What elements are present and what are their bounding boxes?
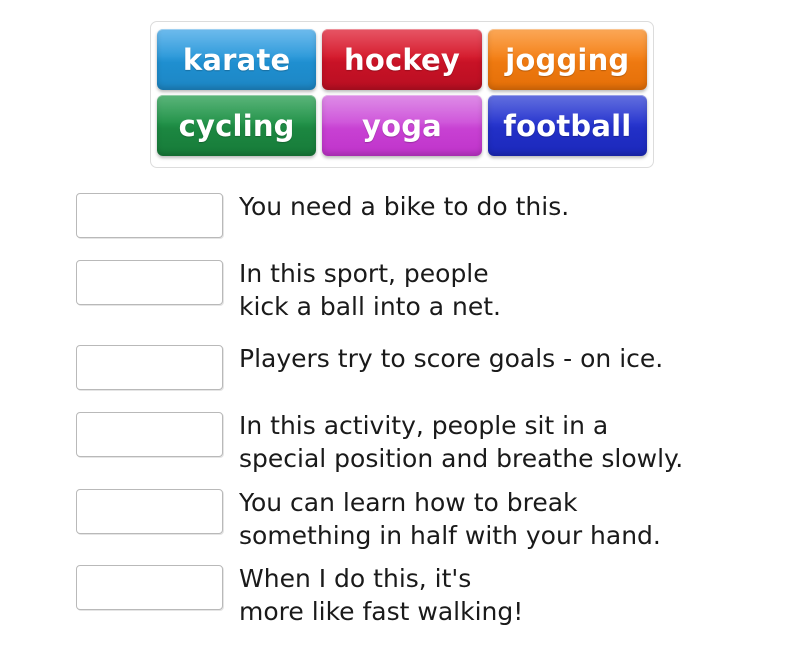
drop-zone-3[interactable] (76, 345, 223, 390)
word-tile-label: yoga (362, 109, 442, 143)
word-tile-jogging[interactable]: jogging (488, 29, 647, 90)
question-text-4: In this activity, people sit in a specia… (239, 409, 776, 475)
word-tile-label: jogging (505, 43, 629, 77)
word-bank-tray: karate hockey jogging cycling yoga footb… (150, 21, 654, 168)
word-tile-label: karate (183, 43, 290, 77)
question-text-1: You need a bike to do this. (239, 190, 776, 223)
question-text-3: Players try to score goals - on ice. (239, 342, 776, 375)
word-tile-football[interactable]: football (488, 95, 647, 156)
drop-zone-1[interactable] (76, 193, 223, 238)
question-text-2: In this sport, people kick a ball into a… (239, 257, 776, 323)
word-tile-label: football (503, 109, 631, 143)
drop-zone-5[interactable] (76, 489, 223, 534)
drop-zone-6[interactable] (76, 565, 223, 610)
word-tile-label: cycling (179, 109, 295, 143)
word-tile-karate[interactable]: karate (157, 29, 316, 90)
drop-zone-2[interactable] (76, 260, 223, 305)
word-tile-cycling[interactable]: cycling (157, 95, 316, 156)
word-tile-yoga[interactable]: yoga (322, 95, 481, 156)
question-text-5: You can learn how to break something in … (239, 486, 776, 552)
question-row: In this activity, people sit in a specia… (76, 409, 776, 475)
question-row: You need a bike to do this. (76, 190, 776, 238)
question-list: You need a bike to do this. In this spor… (76, 190, 776, 647)
word-bank-row-2: cycling yoga football (157, 95, 647, 156)
question-row: You can learn how to break something in … (76, 486, 776, 552)
word-tile-label: hockey (344, 43, 460, 77)
question-row: Players try to score goals - on ice. (76, 342, 776, 390)
word-tile-hockey[interactable]: hockey (322, 29, 481, 90)
word-bank-row-1: karate hockey jogging (157, 29, 647, 90)
drop-zone-4[interactable] (76, 412, 223, 457)
question-row: In this sport, people kick a ball into a… (76, 257, 776, 323)
question-text-6: When I do this, it's more like fast walk… (239, 562, 776, 628)
question-row: When I do this, it's more like fast walk… (76, 562, 776, 628)
